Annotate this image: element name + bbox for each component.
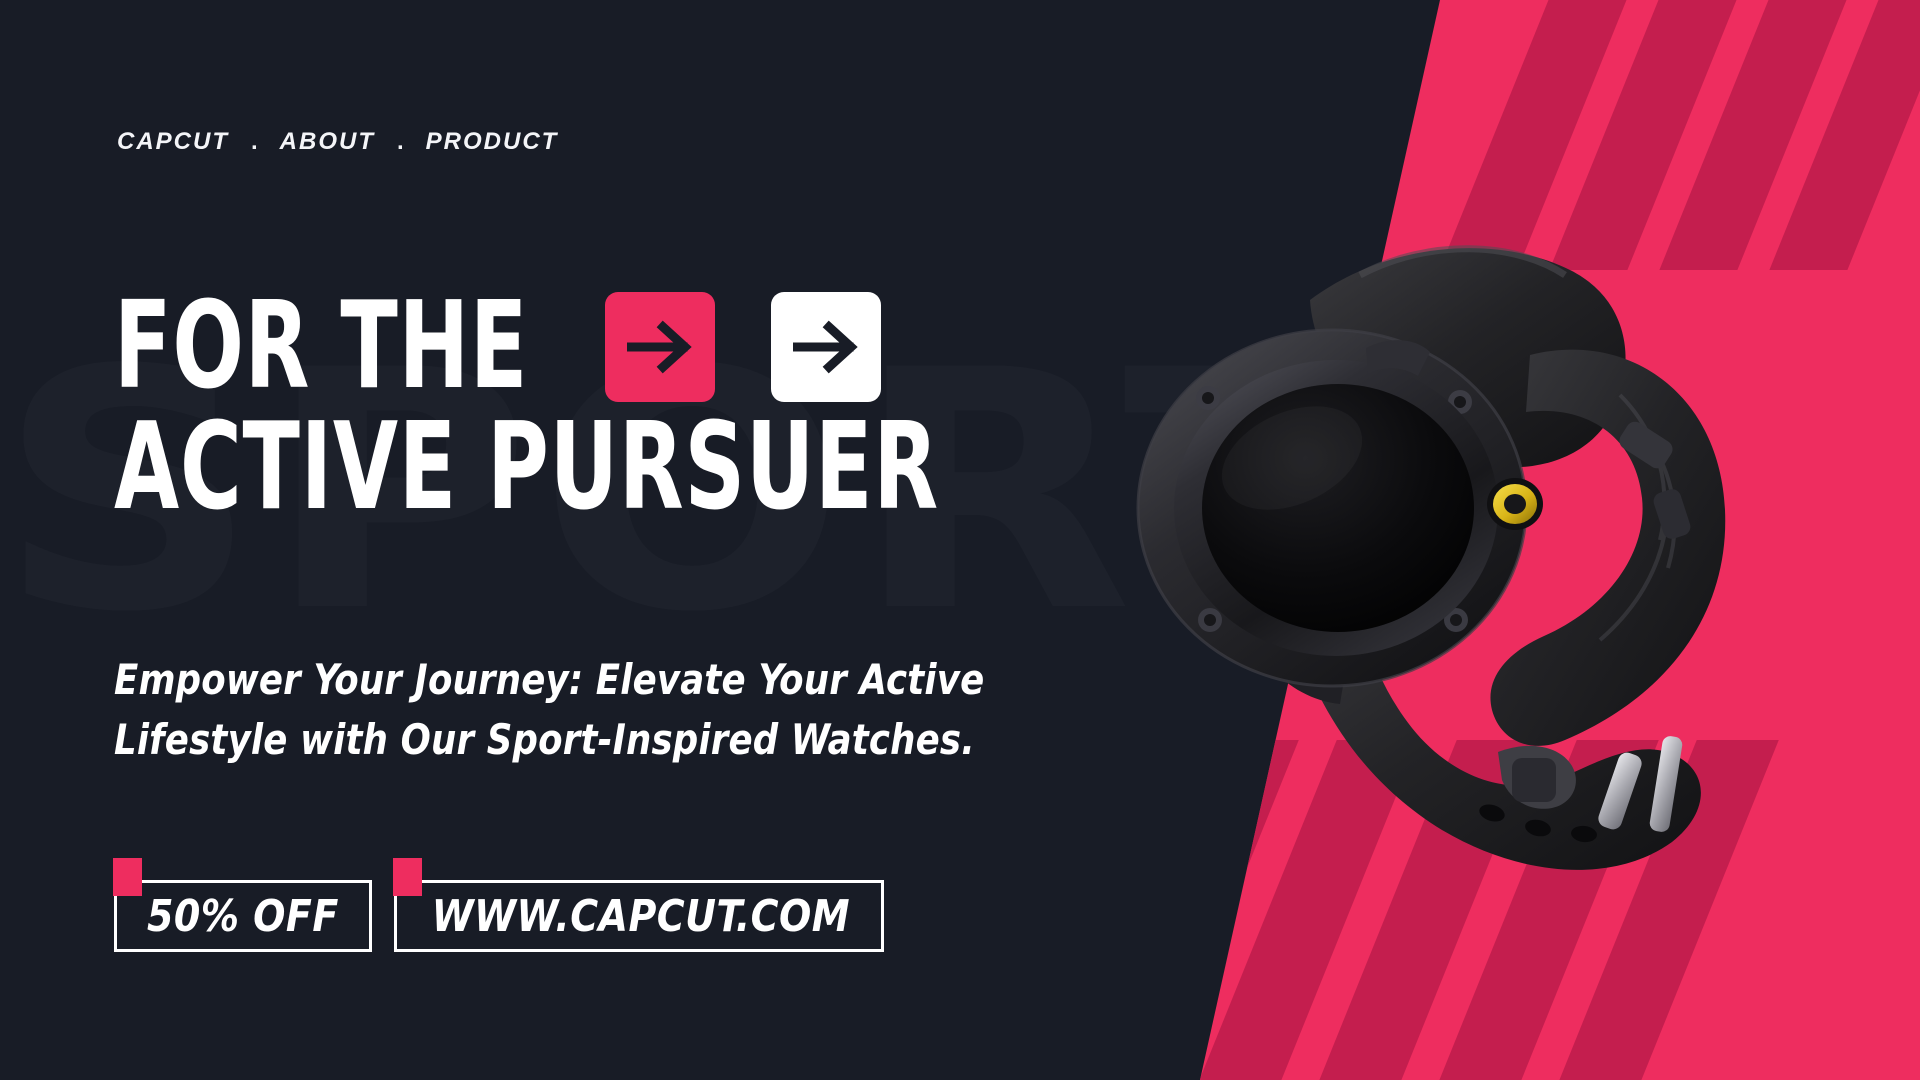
website-label: WWW.CAPCUT.COM [431, 891, 849, 942]
footer-badge-row: 50% OFF WWW.CAPCUT.COM [114, 880, 884, 952]
discount-badge[interactable]: 50% OFF [114, 880, 372, 952]
discount-label: 50% OFF [147, 891, 339, 942]
nav-separator: . [375, 128, 426, 156]
website-badge[interactable]: WWW.CAPCUT.COM [394, 880, 884, 952]
arrow-right-icon [793, 319, 859, 375]
discount-badge-frame: 50% OFF [114, 880, 372, 952]
headline-line-2: ACTIVE PURSUER [114, 416, 939, 519]
headline-line-1: FOR THE [114, 295, 528, 398]
hero-headline: FOR THE [114, 292, 1172, 519]
subtitle-line-1: Empower Your Journey: Elevate Your Activ… [114, 650, 960, 710]
nav-separator: . [229, 128, 280, 156]
arrow-badge-group [605, 292, 881, 402]
product-image-smartwatch [1060, 180, 1820, 900]
subtitle-line-2: Lifestyle with Our Sport-Inspired Watche… [114, 710, 960, 770]
nav-item-product[interactable]: PRODUCT [426, 128, 559, 156]
pink-corner-square [113, 858, 142, 896]
website-badge-frame: WWW.CAPCUT.COM [394, 880, 884, 952]
banner-canvas: SPORT CAPCUT . ABOUT . PRODUCT FOR THE [0, 0, 1920, 1080]
nav-item-about[interactable]: ABOUT [280, 128, 375, 156]
arrow-badge-pink[interactable] [605, 292, 715, 402]
hero-subtitle: Empower Your Journey: Elevate Your Activ… [114, 650, 960, 769]
nav-item-capcut[interactable]: CAPCUT [117, 128, 229, 156]
arrow-badge-white[interactable] [771, 292, 881, 402]
arrow-right-icon [627, 319, 693, 375]
watch-crown-button [1487, 478, 1543, 530]
pink-corner-square [393, 858, 422, 896]
top-navigation: CAPCUT . ABOUT . PRODUCT [117, 128, 558, 156]
